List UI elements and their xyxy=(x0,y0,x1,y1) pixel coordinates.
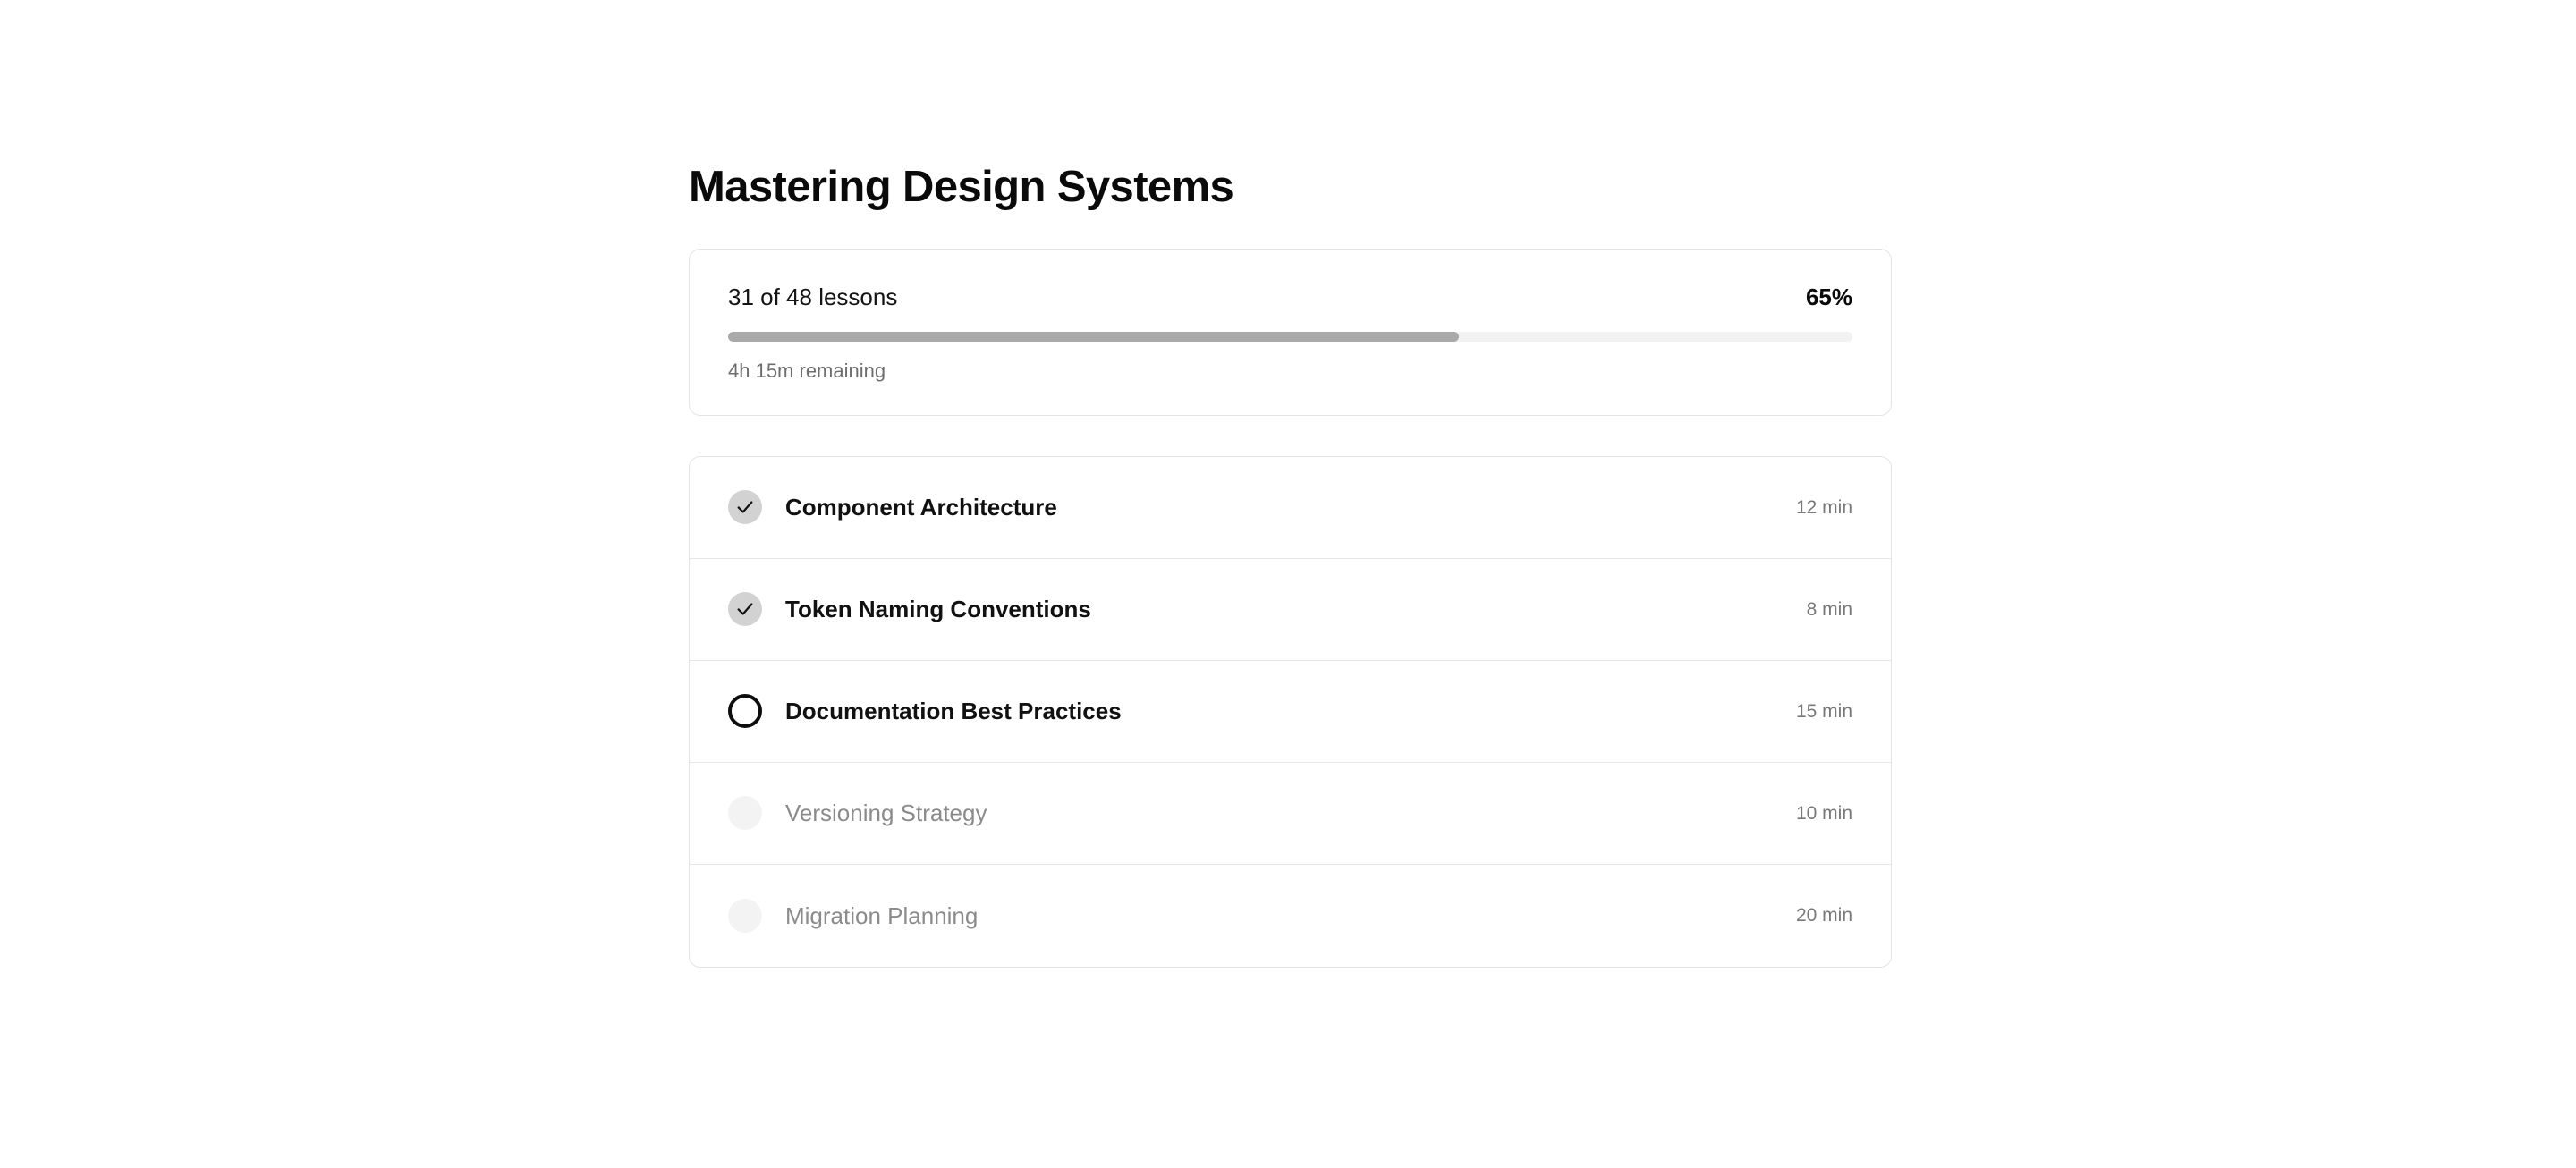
lesson-title: Versioning Strategy xyxy=(785,801,1796,825)
content-container: Mastering Design Systems 31 of 48 lesson… xyxy=(689,164,1892,968)
course-progress-page: Mastering Design Systems 31 of 48 lesson… xyxy=(0,0,2576,1168)
lesson-title: Component Architecture xyxy=(785,495,1796,519)
empty-circle-icon xyxy=(728,796,762,830)
lesson-duration: 12 min xyxy=(1796,498,1852,517)
lesson-row[interactable]: Versioning Strategy 10 min xyxy=(690,763,1891,865)
lesson-row[interactable]: Token Naming Conventions 8 min xyxy=(690,559,1891,661)
lesson-title: Migration Planning xyxy=(785,904,1796,927)
lesson-list-card: Component Architecture 12 min Token Nami… xyxy=(689,456,1892,968)
check-icon xyxy=(728,490,762,524)
empty-circle-icon xyxy=(728,899,762,933)
progress-bar-fill xyxy=(728,332,1459,342)
lesson-duration: 20 min xyxy=(1796,906,1852,925)
lesson-title: Documentation Best Practices xyxy=(785,699,1796,723)
lesson-duration: 10 min xyxy=(1796,804,1852,823)
lessons-count-label: 31 of 48 lessons xyxy=(728,285,897,309)
lesson-row[interactable]: Documentation Best Practices 15 min xyxy=(690,661,1891,763)
progress-percent-label: 65% xyxy=(1806,285,1852,309)
lesson-title: Token Naming Conventions xyxy=(785,597,1807,621)
lesson-row[interactable]: Migration Planning 20 min xyxy=(690,865,1891,967)
page-title: Mastering Design Systems xyxy=(689,164,1892,212)
lesson-row[interactable]: Component Architecture 12 min xyxy=(690,457,1891,559)
check-icon xyxy=(728,592,762,626)
progress-header: 31 of 48 lessons 65% xyxy=(728,285,1852,309)
progress-summary-card: 31 of 48 lessons 65% 4h 15m remaining xyxy=(689,249,1892,416)
lesson-duration: 15 min xyxy=(1796,702,1852,721)
time-remaining-label: 4h 15m remaining xyxy=(728,361,1852,381)
lesson-duration: 8 min xyxy=(1807,600,1852,619)
ring-icon xyxy=(728,694,762,728)
progress-bar-track xyxy=(728,332,1852,342)
